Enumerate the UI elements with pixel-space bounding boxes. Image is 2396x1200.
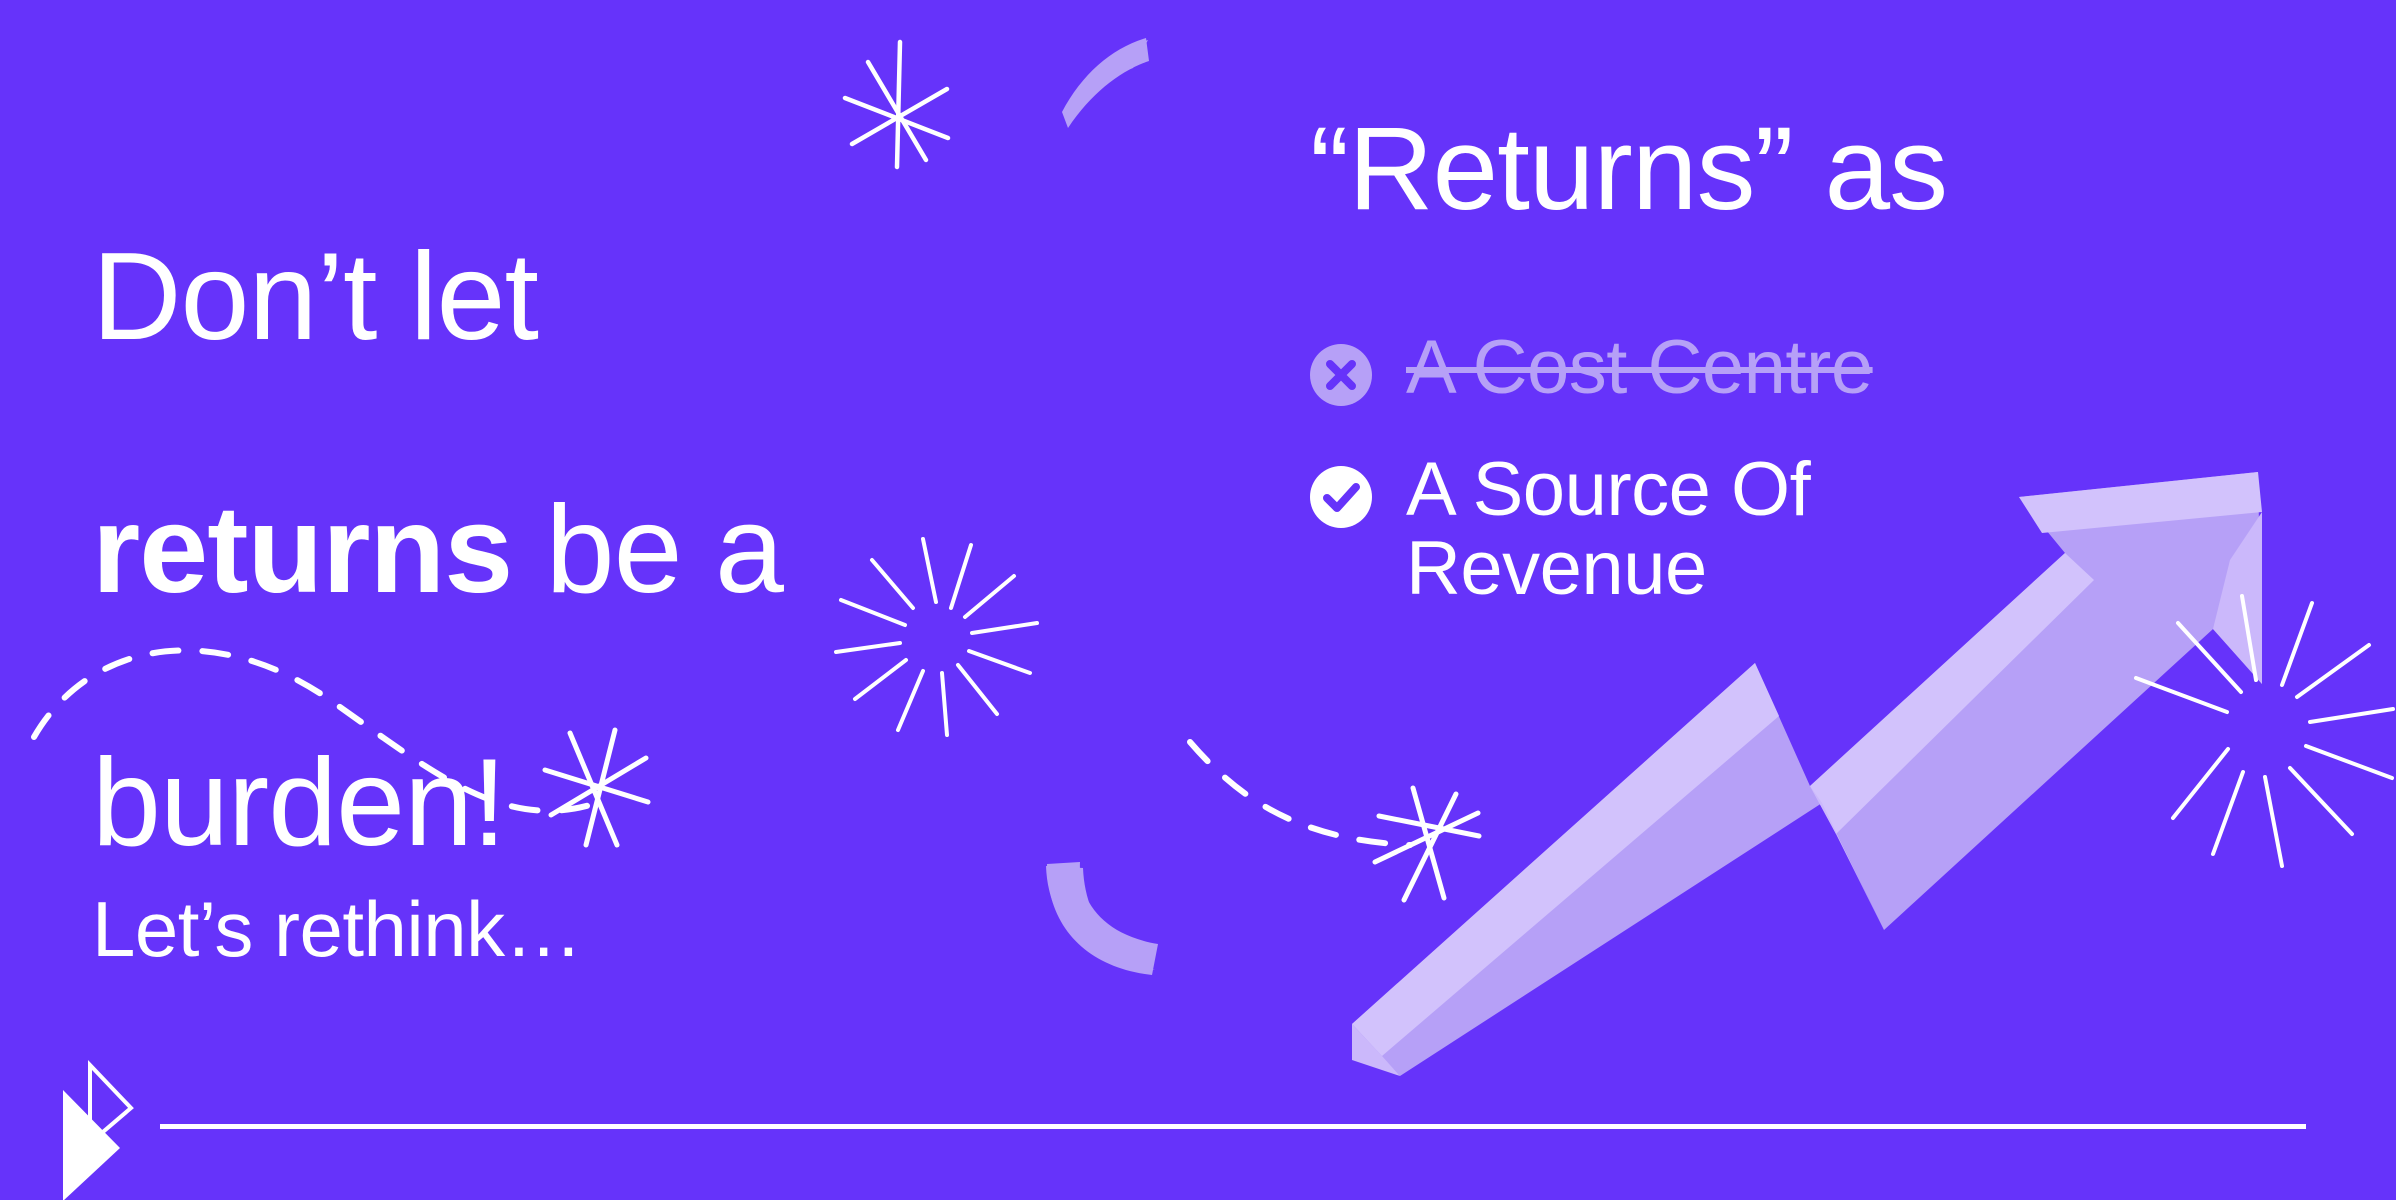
circle-x-icon bbox=[1310, 344, 1372, 406]
headline-line-2-rest: be a bbox=[512, 481, 783, 619]
slide-canvas: Don’t let returns be a burden! Let’s ret… bbox=[0, 0, 2396, 1200]
list-item: A Source Of Revenue bbox=[1310, 450, 2330, 610]
list-item: A Cost Centre bbox=[1310, 328, 2330, 408]
subheading: Let’s rethink… bbox=[92, 890, 582, 968]
double-triangle-play-logo bbox=[58, 1053, 142, 1200]
headline-emphasis: returns bbox=[92, 481, 512, 619]
returns-framing-list: A Cost Centre A Source Of Revenue bbox=[1310, 328, 2330, 609]
growth-arrow-highlight bbox=[1352, 663, 1779, 1056]
headline-line-3: burden! bbox=[92, 740, 1152, 866]
8-point-star-icon bbox=[1375, 788, 1479, 900]
growth-arrow-shadow bbox=[1352, 1024, 1400, 1076]
page-title: Don’t let returns be a burden! bbox=[92, 108, 1152, 993]
list-item-label: A Source Of Revenue bbox=[1406, 450, 1810, 610]
section-title: “Returns” as bbox=[1310, 108, 2330, 232]
list-item-label: A Cost Centre bbox=[1406, 328, 1873, 408]
dashed-curve-right bbox=[1190, 742, 1410, 845]
headline-line-2: returns be a bbox=[92, 487, 1152, 613]
circle-check-icon bbox=[1310, 466, 1372, 528]
right-content-block: “Returns” as A Cost Centre bbox=[1310, 108, 2330, 651]
left-headline-block: Don’t let returns be a burden! bbox=[92, 108, 1152, 993]
footer-rule bbox=[160, 1124, 2306, 1129]
growth-arrow-shadow-2 bbox=[1810, 786, 1884, 930]
headline-line-1: Don’t let bbox=[92, 234, 1152, 360]
